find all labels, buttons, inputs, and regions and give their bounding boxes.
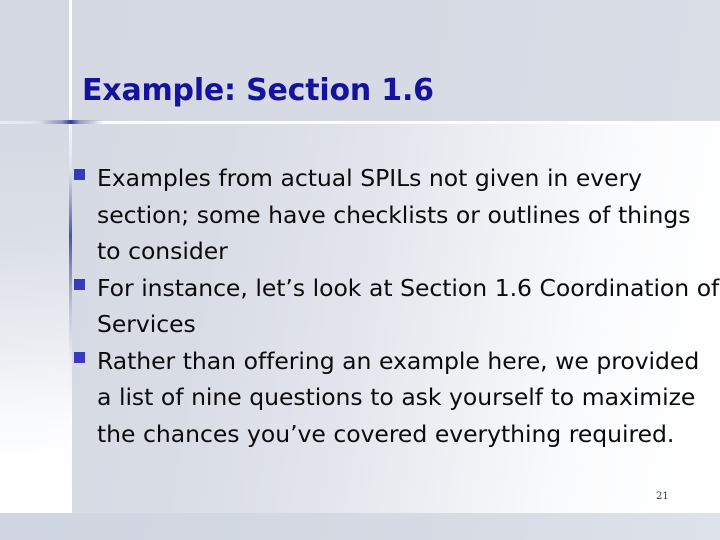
bullet-text: Rather than offering an example here, we… [97, 343, 720, 453]
slide-left-margin-strip [0, 123, 70, 513]
square-bullet-icon [74, 169, 85, 180]
square-bullet-icon [74, 279, 85, 290]
slide-title: Example: Section 1.6 [82, 76, 434, 106]
bullet-list-item: For instance, let’s look at Section 1.6 … [72, 270, 720, 343]
horizontal-divider-line [0, 121, 720, 124]
page-number: 21 [656, 491, 669, 502]
bullet-list-item: Rather than offering an example here, we… [72, 343, 720, 453]
crosshair-accent-icon [40, 120, 104, 124]
slide-canvas: Example: Section 1.6 Examples from actua… [0, 0, 720, 540]
bullet-list-item: Examples from actual SPILs not given in … [72, 160, 720, 270]
slide-body-content: Examples from actual SPILs not given in … [72, 160, 720, 452]
bullet-text: Examples from actual SPILs not given in … [97, 160, 720, 270]
square-bullet-icon [74, 352, 85, 363]
bullet-text: For instance, let’s look at Section 1.6 … [97, 270, 720, 343]
slide-footer-band [0, 513, 720, 540]
